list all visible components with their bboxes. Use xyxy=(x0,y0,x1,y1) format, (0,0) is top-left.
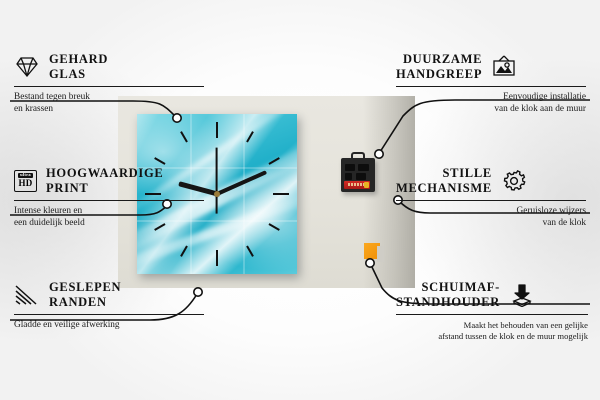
feature-description: Intense kleuren eneen duidelijk beeld xyxy=(14,206,204,229)
feature-divider xyxy=(14,86,204,87)
feature-title: STILLEMECHANISME xyxy=(396,166,492,195)
foam-spacer-stamp-icon xyxy=(509,283,535,307)
feature-description: Bestand tegen breuken krassen xyxy=(14,92,204,115)
feature-heading: GEHARDGLAS xyxy=(14,52,204,81)
feature-geslepen-randen[interactable]: GESLEPENRANDEN Gladde en veilige afwerki… xyxy=(14,280,204,332)
ultra-hd-icon: ultra HD xyxy=(14,170,37,192)
feature-title: HOOGWAARDIGEPRINT xyxy=(46,166,163,195)
feature-heading: SCHUIMAF-STANDHOUDER xyxy=(396,280,588,309)
feature-heading: DUURZAMEHANDGREEP xyxy=(396,52,586,81)
feature-description: Gladde en veilige afwerking xyxy=(14,320,204,332)
diamond-icon xyxy=(14,55,40,79)
battery xyxy=(344,181,370,189)
feature-duurzame-handgreep[interactable]: DUURZAMEHANDGREEP Eenvoudige installatie… xyxy=(396,52,586,115)
feature-heading: GESLEPENRANDEN xyxy=(14,280,204,309)
feature-divider xyxy=(396,200,586,201)
feature-heading: STILLEMECHANISME xyxy=(396,166,586,195)
ultra-hd-icon-bottom-label: HD xyxy=(18,179,32,188)
mechanism-detail xyxy=(356,173,366,180)
feature-title: DUURZAMEHANDGREEP xyxy=(396,52,482,81)
clock-mechanism xyxy=(341,158,375,192)
feature-heading: ultra HD HOOGWAARDIGEPRINT xyxy=(14,166,204,195)
feature-title: GEHARDGLAS xyxy=(49,52,108,81)
clock-center-cap xyxy=(214,191,220,197)
feature-description: Maakt het behouden van een gelijkeafstan… xyxy=(396,320,588,341)
mechanism-body xyxy=(341,158,375,192)
mechanism-detail xyxy=(345,173,352,180)
feature-divider xyxy=(14,200,204,201)
feature-gehard-glas[interactable]: GEHARDGLAS Bestand tegen breuken krassen xyxy=(14,52,204,115)
hanging-picture-frame-icon xyxy=(491,55,517,79)
feature-title: SCHUIMAF-STANDHOUDER xyxy=(396,280,500,309)
feature-divider xyxy=(396,86,586,87)
battery-plus-terminal xyxy=(364,182,369,188)
infographic-canvas: GEHARDGLAS Bestand tegen breuken krassen… xyxy=(0,0,600,400)
feature-stille-mechanisme[interactable]: STILLEMECHANISME Geruisloze wijzersvan d… xyxy=(396,166,586,229)
foam-spacer-pad xyxy=(364,243,384,262)
feature-description: Geruisloze wijzersvan de klok xyxy=(396,206,586,229)
gear-icon xyxy=(501,169,527,193)
mechanism-detail xyxy=(345,164,355,171)
feature-schuimafstandhouder[interactable]: SCHUIMAF-STANDHOUDER Maakt het behouden … xyxy=(396,280,588,341)
feature-divider xyxy=(14,314,204,315)
feature-hoogwaardige-print[interactable]: ultra HD HOOGWAARDIGEPRINT Intense kleur… xyxy=(14,166,204,229)
clock-tick xyxy=(217,193,289,195)
foam-pad-side xyxy=(377,246,384,262)
bevelled-edge-icon xyxy=(14,283,40,307)
clock-second-hand xyxy=(216,148,218,214)
mechanism-detail xyxy=(358,164,369,171)
feature-divider xyxy=(396,314,588,315)
feature-title: GESLEPENRANDEN xyxy=(49,280,121,309)
feature-description: Eenvoudige installatievan de klok aan de… xyxy=(396,92,586,115)
